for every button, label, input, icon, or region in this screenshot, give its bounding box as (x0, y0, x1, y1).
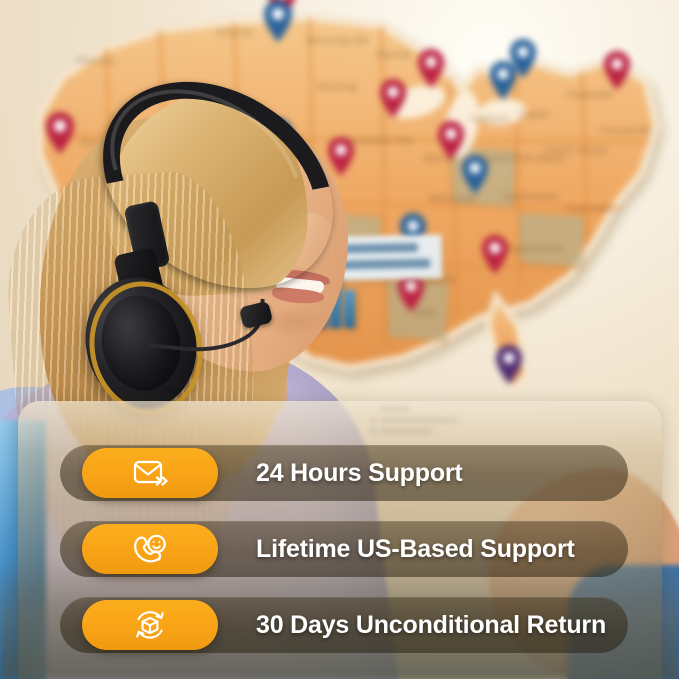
svg-text:Wotnoriter: Wotnoriter (428, 193, 479, 205)
svg-text:Sauth Olsark: Sauth Olsark (544, 145, 608, 157)
svg-text:Teamadd: Teamadd (566, 203, 611, 215)
phone-smiley-icon (131, 533, 169, 565)
feature-icon-pill-1 (82, 448, 218, 498)
feature-icon-pill-2 (82, 524, 218, 574)
svg-text:Aganonnist: Aganonnist (508, 243, 563, 255)
svg-text:Shierile: Shierile (216, 27, 253, 39)
svg-text:Sauthasted: Sauthasted (502, 191, 558, 203)
feature-list: 24 Hours Support (18, 401, 662, 679)
svg-text:Seadradu: Seadradu (566, 89, 614, 101)
svg-text:Daithn: Daithn (518, 109, 550, 121)
svg-text:Insroarnile: Insroarnile (600, 125, 651, 137)
feature-row-support-24h: 24 Hours Support (60, 445, 628, 501)
feature-row-us-based-support: Lifetime US-Based Support (60, 521, 628, 577)
feature-label-1: 24 Hours Support (256, 459, 463, 488)
svg-text:Wommig Sift: Wommig Sift (306, 35, 368, 47)
product-feature-image: WarrataShierile Wommig SiftBamisk BarrIl… (0, 0, 679, 679)
feature-overlay-panel: 24 Hours Support (18, 401, 662, 679)
feature-label-3: 30 Days Unconditional Return (256, 611, 606, 640)
svg-text:Sabi: Sabi (414, 307, 436, 319)
feature-icon-pill-3 (82, 600, 218, 650)
feature-label-2: Lifetime US-Based Support (256, 535, 575, 564)
box-return-arrows-icon (131, 607, 169, 643)
svg-text:Naldaric: Naldaric (470, 113, 511, 125)
feature-row-return-policy: 30 Days Unconditional Return (60, 597, 628, 653)
envelope-fast-icon (131, 458, 169, 488)
